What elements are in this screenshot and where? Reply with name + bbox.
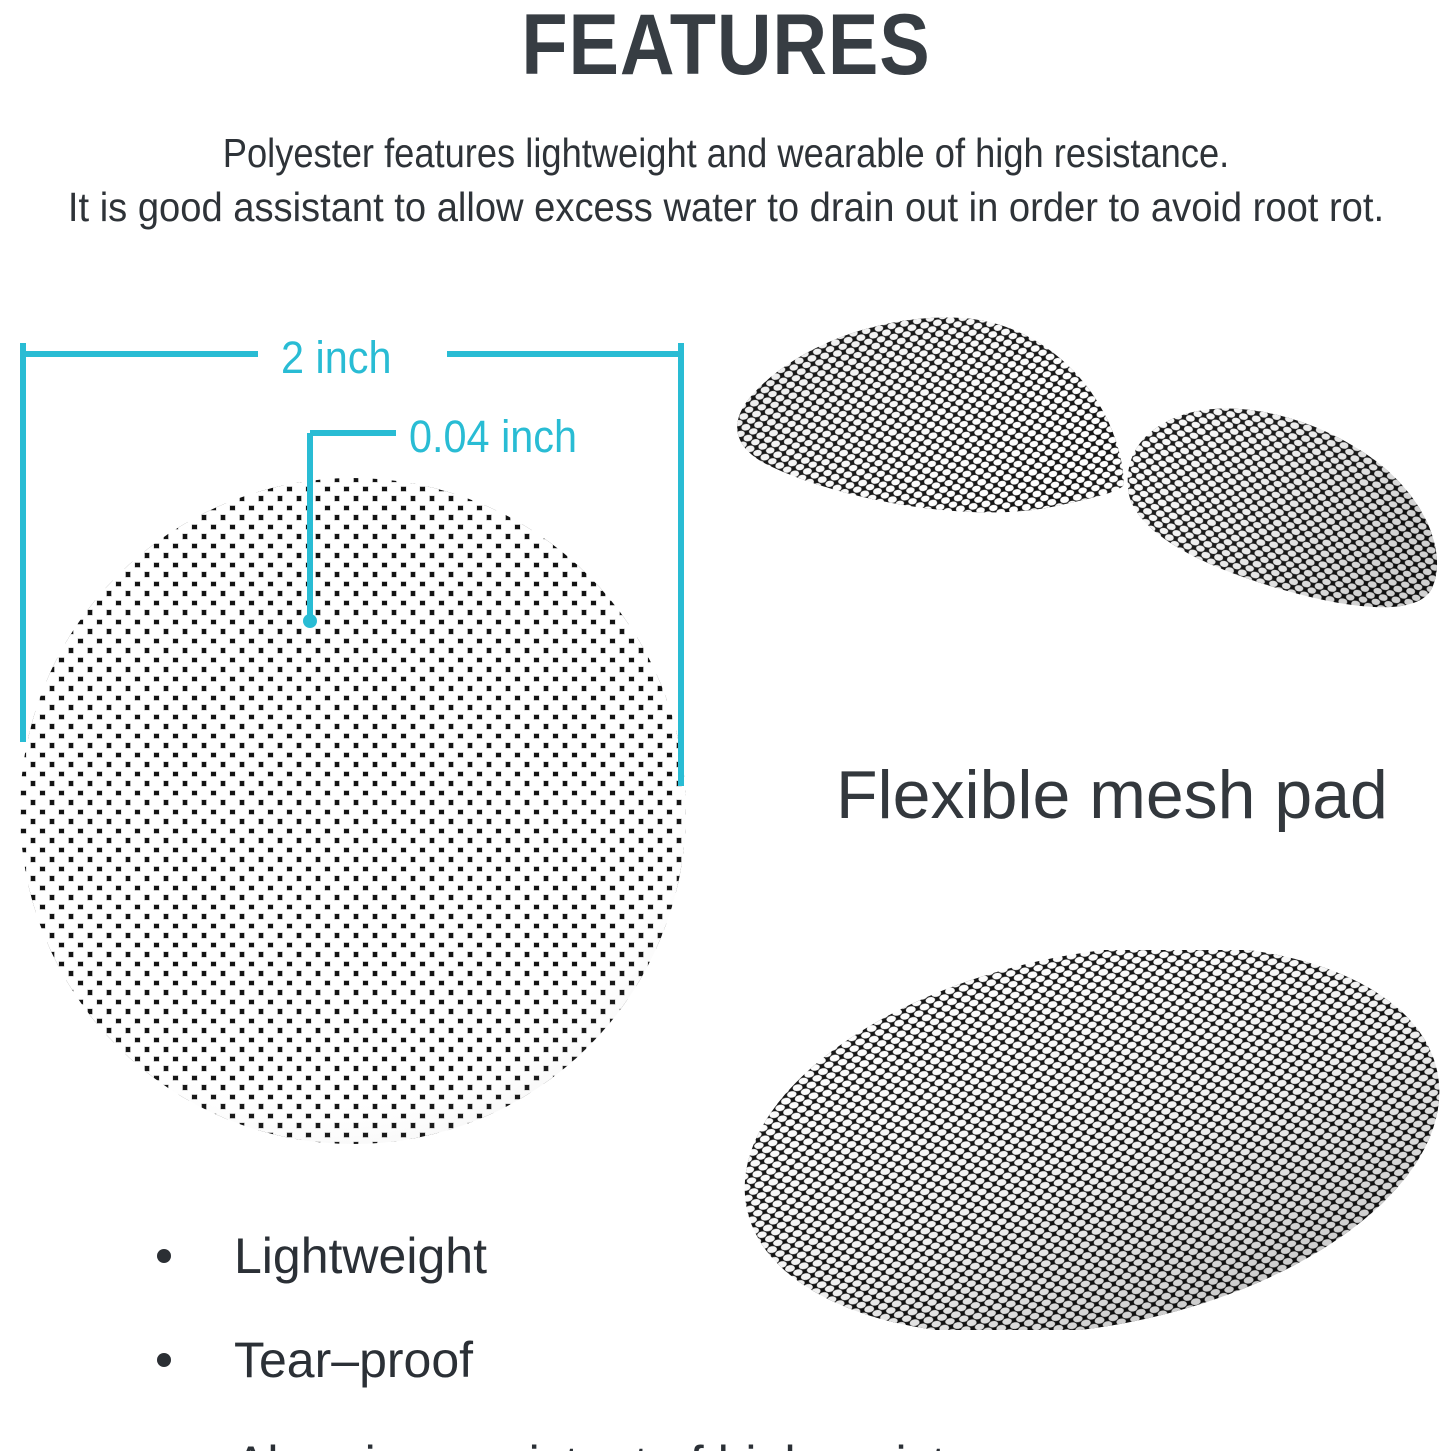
subtitle-line-1: Polyester features lightweight and weara…: [83, 126, 1368, 180]
bullet-dot-icon: [157, 1249, 171, 1263]
subtitle-block: Polyester features lightweight and weara…: [0, 126, 1452, 234]
list-item: Lightweight: [150, 1204, 1250, 1308]
round-mesh-pad-image: [14, 470, 692, 1152]
folded-mesh-pad-image: [726, 288, 1452, 724]
feature-label: Abrasion–resistant of high resistance: [234, 1435, 1054, 1451]
feature-bullet-list: Lightweight Tear–proof Abrasion–resistan…: [150, 1204, 1250, 1451]
page-title: FEATURES: [87, 0, 1365, 95]
feature-label: Tear–proof: [234, 1331, 473, 1389]
bullet-dot-icon: [157, 1353, 171, 1367]
dimension-thickness-label: 0.04 inch: [409, 411, 577, 463]
subtitle-line-2: It is good assistant to allow excess wat…: [51, 180, 1401, 234]
disc-mesh-fill: [14, 470, 692, 1152]
flexible-mesh-pad-label: Flexible mesh pad: [836, 756, 1388, 834]
list-item: Abrasion–resistant of high resistance: [150, 1412, 1250, 1451]
feature-label: Lightweight: [234, 1227, 487, 1285]
product-feature-infographic: FEATURES Polyester features lightweight …: [0, 0, 1452, 1451]
dimension-width-label: 2 inch: [281, 332, 391, 384]
list-item: Tear–proof: [150, 1308, 1250, 1412]
